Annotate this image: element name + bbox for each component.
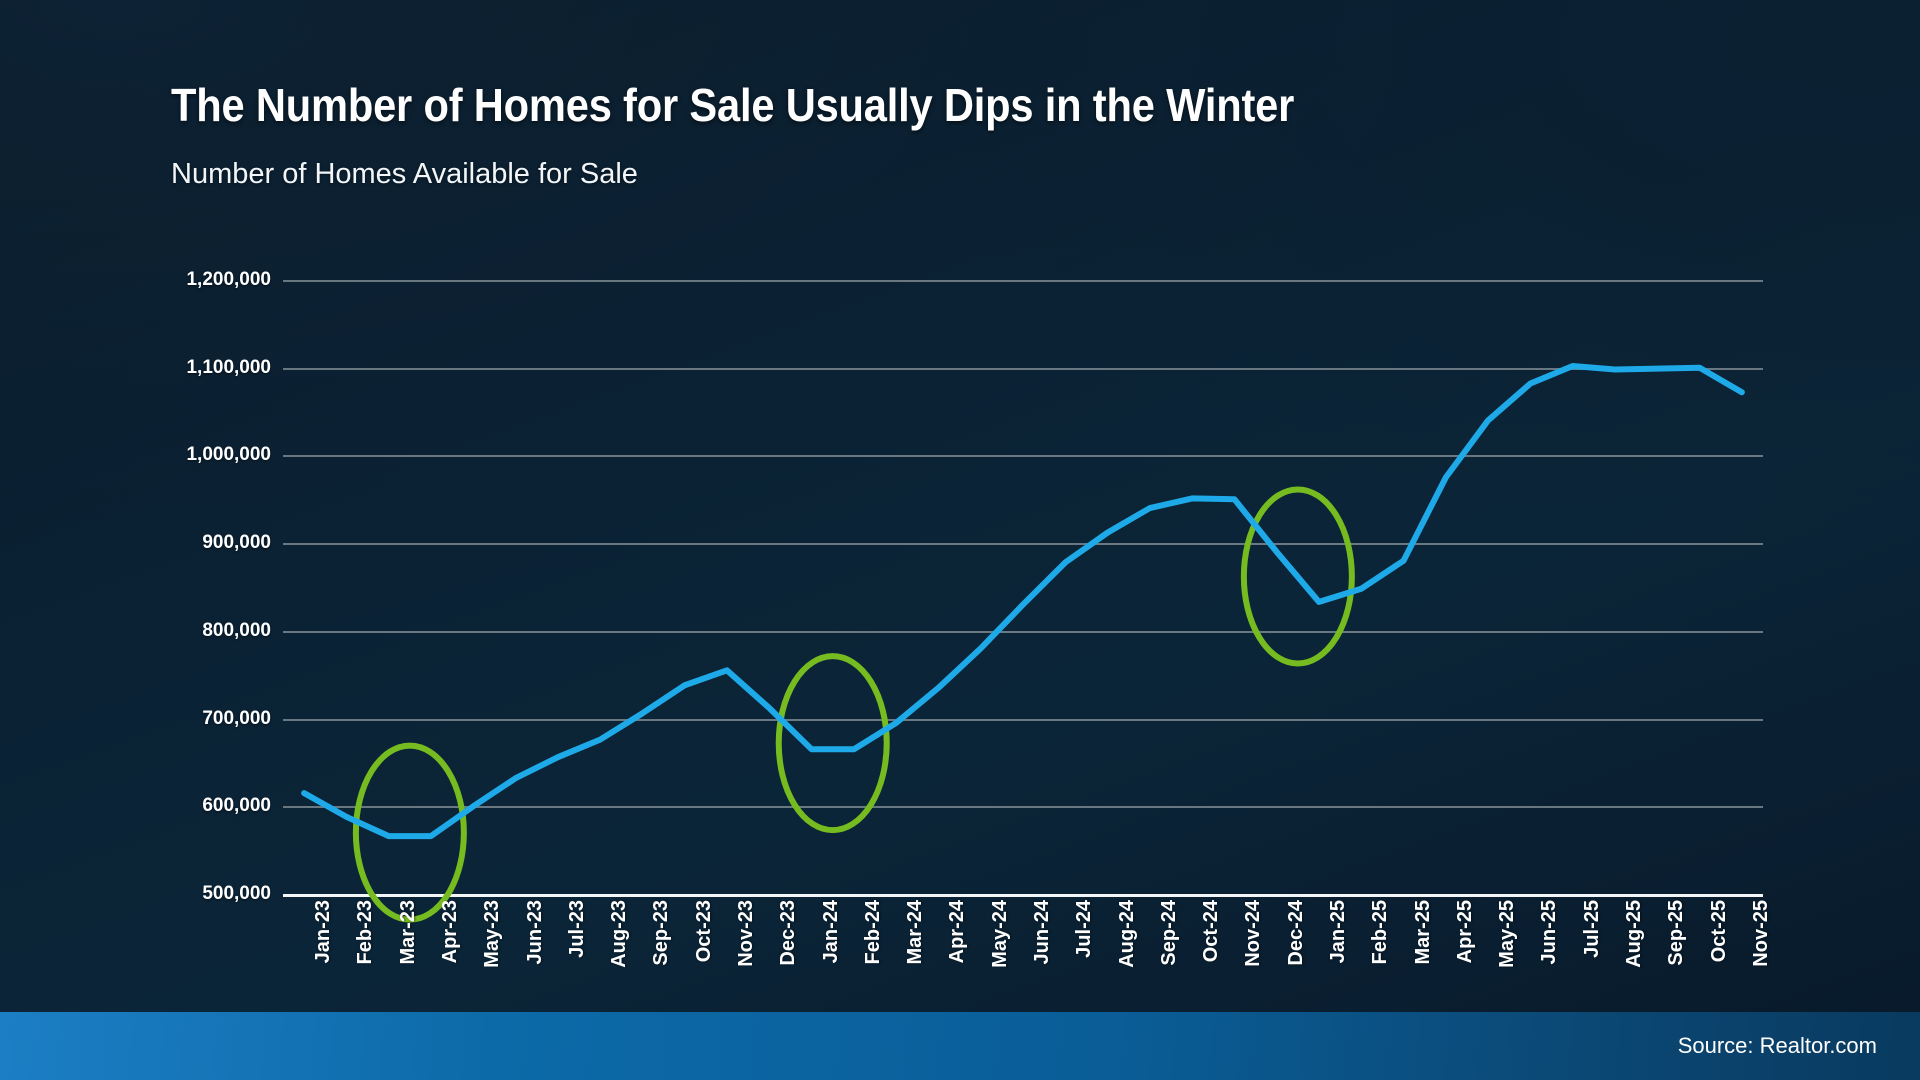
- highlight-circle-winter-dip-2024: [779, 656, 887, 830]
- x-axis-tick-label: Dec-24: [1285, 900, 1308, 966]
- chart-slide: The Number of Homes for Sale Usually Dip…: [0, 0, 1920, 1080]
- x-axis-tick-label: May-24: [989, 900, 1012, 968]
- chart-plot-area: 1,200,0001,100,0001,000,000900,000800,00…: [283, 280, 1763, 894]
- x-axis-tick-label: Aug-23: [608, 900, 631, 968]
- x-axis-tick-label: Oct-24: [1200, 900, 1223, 962]
- x-axis-tick-label: Apr-23: [439, 900, 462, 963]
- x-axis-tick-label: Feb-23: [354, 900, 377, 964]
- gridline-500000: [283, 894, 1763, 897]
- x-axis-tick-label: Jan-25: [1327, 900, 1350, 963]
- source-label: Source: Realtor.com: [1678, 1033, 1877, 1059]
- x-axis-tick-label: Mar-25: [1412, 900, 1435, 964]
- x-axis-tick-label: Sep-23: [650, 900, 673, 966]
- x-axis-tick-label: Oct-23: [693, 900, 716, 962]
- x-axis-tick-label: Nov-23: [735, 900, 758, 967]
- x-axis-labels: Jan-23Feb-23Mar-23Apr-23May-23Jun-23Jul-…: [283, 900, 1763, 1030]
- x-axis-tick-label: Aug-24: [1116, 900, 1139, 968]
- x-axis-tick-label: Aug-25: [1623, 900, 1646, 968]
- x-axis-tick-label: Apr-24: [946, 900, 969, 963]
- y-axis-tick-label: 600,000: [202, 795, 271, 817]
- x-axis-tick-label: Jul-25: [1581, 900, 1604, 958]
- y-axis-tick-label: 500,000: [202, 883, 271, 905]
- x-axis-tick-label: Jun-25: [1538, 900, 1561, 964]
- y-axis-tick-label: 700,000: [202, 708, 271, 730]
- y-axis-tick-label: 800,000: [202, 620, 271, 642]
- x-axis-tick-label: Jan-23: [312, 900, 335, 963]
- x-axis-tick-label: Feb-24: [862, 900, 885, 964]
- x-axis-tick-label: Sep-25: [1665, 900, 1688, 966]
- x-axis-tick-label: Jul-24: [1073, 900, 1096, 958]
- data-line-homes-for-sale: [304, 366, 1742, 836]
- x-axis-tick-label: May-23: [481, 900, 504, 968]
- chart-series-svg: [283, 280, 1763, 894]
- x-axis-tick-label: Jan-24: [820, 900, 843, 963]
- page-title: The Number of Homes for Sale Usually Dip…: [171, 78, 1294, 132]
- x-axis-tick-label: Jul-23: [566, 900, 589, 958]
- y-axis-tick-label: 1,200,000: [186, 269, 271, 291]
- x-axis-tick-label: Mar-24: [904, 900, 927, 964]
- x-axis-tick-label: Sep-24: [1158, 900, 1181, 966]
- x-axis-tick-label: Feb-25: [1369, 900, 1392, 964]
- x-axis-tick-label: Apr-25: [1454, 900, 1477, 963]
- y-axis-tick-label: 1,000,000: [186, 444, 271, 466]
- x-axis-tick-label: Oct-25: [1708, 900, 1731, 962]
- x-axis-tick-label: Jun-24: [1031, 900, 1054, 964]
- y-axis-tick-label: 1,100,000: [186, 357, 271, 379]
- y-axis-tick-label: 900,000: [202, 532, 271, 554]
- x-axis-tick-label: Dec-23: [777, 900, 800, 966]
- footer-bar: Source: Realtor.com: [0, 1012, 1920, 1080]
- x-axis-tick-label: Nov-25: [1750, 900, 1773, 967]
- x-axis-tick-label: May-25: [1496, 900, 1519, 968]
- highlight-circles: [356, 489, 1352, 919]
- x-axis-tick-label: Nov-24: [1242, 900, 1265, 967]
- x-axis-tick-label: Jun-23: [524, 900, 547, 964]
- x-axis-tick-label: Mar-23: [397, 900, 420, 964]
- chart-subtitle: Number of Homes Available for Sale: [171, 158, 638, 191]
- highlight-circle-winter-dip-2023: [356, 746, 464, 920]
